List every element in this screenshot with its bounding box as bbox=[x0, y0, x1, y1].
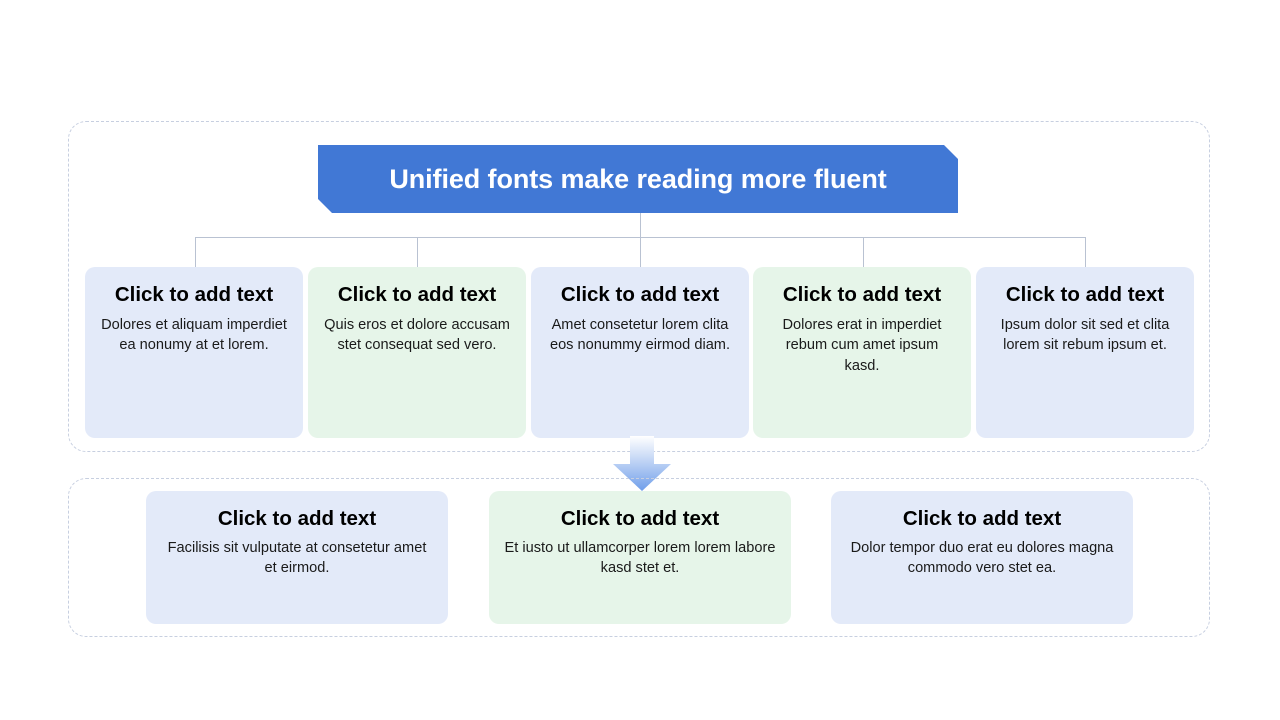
card-body: Dolores et aliquam imperdiet ea nonumy a… bbox=[99, 315, 289, 356]
card-title: Click to add text bbox=[990, 283, 1180, 307]
card-title: Click to add text bbox=[503, 507, 777, 531]
card-title: Click to add text bbox=[322, 283, 512, 307]
connector-drop-5 bbox=[1085, 237, 1086, 268]
connector-stem bbox=[640, 213, 641, 238]
card-title: Click to add text bbox=[767, 283, 957, 307]
card-body: Quis eros et dolore accusam stet consequ… bbox=[322, 315, 512, 356]
connector-drop-1 bbox=[195, 237, 196, 268]
card-title: Click to add text bbox=[160, 507, 434, 531]
card-title: Click to add text bbox=[845, 507, 1119, 531]
card-bottom-2[interactable]: Click to add text Et iusto ut ullamcorpe… bbox=[489, 491, 791, 624]
card-top-4[interactable]: Click to add text Dolores erat in imperd… bbox=[753, 267, 971, 438]
card-bottom-3[interactable]: Click to add text Dolor tempor duo erat … bbox=[831, 491, 1133, 624]
slide-canvas: Unified fonts make reading more fluent C… bbox=[0, 0, 1280, 720]
card-body: Dolores erat in imperdiet rebum cum amet… bbox=[767, 315, 957, 377]
card-top-2[interactable]: Click to add text Quis eros et dolore ac… bbox=[308, 267, 526, 438]
card-body: Ipsum dolor sit sed et clita lorem sit r… bbox=[990, 315, 1180, 356]
card-body: Amet consetetur lorem clita eos nonummy … bbox=[545, 315, 735, 356]
card-bottom-1[interactable]: Click to add text Facilisis sit vulputat… bbox=[146, 491, 448, 624]
connector-drop-4 bbox=[863, 237, 864, 268]
title-banner[interactable]: Unified fonts make reading more fluent bbox=[318, 145, 958, 213]
card-top-3[interactable]: Click to add text Amet consetetur lorem … bbox=[531, 267, 749, 438]
card-title: Click to add text bbox=[99, 283, 289, 307]
card-body: Dolor tempor duo erat eu dolores magna c… bbox=[845, 538, 1119, 579]
page-title: Unified fonts make reading more fluent bbox=[389, 164, 886, 195]
card-title: Click to add text bbox=[545, 283, 735, 307]
connector-drop-3 bbox=[640, 237, 641, 268]
card-body: Et iusto ut ullamcorper lorem lorem labo… bbox=[503, 538, 777, 579]
card-top-1[interactable]: Click to add text Dolores et aliquam imp… bbox=[85, 267, 303, 438]
connector-drop-2 bbox=[417, 237, 418, 268]
card-top-5[interactable]: Click to add text Ipsum dolor sit sed et… bbox=[976, 267, 1194, 438]
card-body: Facilisis sit vulputate at consetetur am… bbox=[160, 538, 434, 579]
